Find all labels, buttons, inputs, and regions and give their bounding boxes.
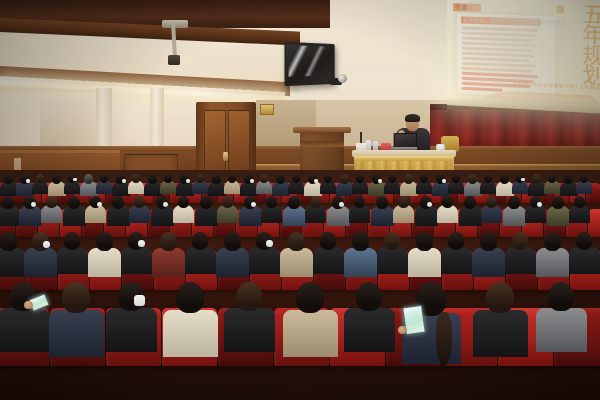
face-mask	[31, 202, 36, 207]
audience-member-head	[324, 174, 332, 183]
audience-member-body	[536, 308, 587, 352]
speaker-hair	[405, 114, 420, 122]
audience-member-head	[46, 196, 57, 208]
lectern-band	[300, 141, 344, 147]
audience-member-body	[283, 310, 338, 357]
table-skirt-band	[354, 156, 454, 161]
audience-member-body	[195, 206, 218, 226]
audience-member-head	[68, 196, 80, 209]
face-mask	[442, 179, 446, 183]
audience-member-body	[106, 308, 157, 352]
audience-member-head	[352, 232, 369, 251]
auditorium-photo: 引言 五年规划：国民经济和社会发展的宏伟蓝图 五年规划 国民经济和社会发展第十四…	[0, 0, 600, 400]
audience-member-head	[196, 174, 204, 183]
face-mask	[122, 179, 126, 183]
audience-member-body	[408, 248, 441, 277]
audience-member-head	[574, 196, 585, 208]
face-mask	[339, 202, 344, 207]
audience-member-head	[552, 196, 564, 209]
audience-member-body	[472, 248, 505, 277]
audience-member-body	[239, 206, 262, 226]
audience-member-head	[576, 232, 592, 250]
audience-member-body	[24, 248, 57, 277]
face-mask	[378, 179, 382, 183]
audience-member-head	[564, 174, 573, 184]
audience-member-head	[134, 196, 145, 208]
hand	[398, 326, 407, 334]
hand	[24, 301, 33, 309]
audience-member-head	[320, 232, 336, 250]
wall-mounted-display	[284, 42, 334, 87]
audience-member-head	[532, 174, 541, 184]
audience-member-head	[486, 282, 514, 313]
audience-member-head	[376, 196, 388, 209]
audience-member-head	[178, 196, 189, 208]
face-mask	[134, 295, 145, 306]
audience-member-head	[512, 232, 528, 250]
audience-member-head	[356, 174, 364, 183]
audience-member-head	[52, 174, 61, 184]
face-mask	[250, 179, 254, 183]
audience-member-head	[132, 174, 140, 183]
audience-member-head	[416, 232, 433, 251]
audience-member-body	[505, 247, 536, 274]
audience-member-body	[283, 206, 306, 226]
face-mask	[521, 178, 525, 181]
audience-member-head	[296, 282, 324, 313]
audience-member-body	[57, 247, 88, 274]
calligraphy-characters: 五年规划	[545, 5, 600, 84]
slide-body-lines	[447, 0, 600, 2]
face-mask	[26, 179, 30, 183]
audience-member-body	[377, 247, 408, 274]
audience-member-head	[200, 196, 212, 209]
audience-member-body	[0, 206, 20, 226]
audience-member-body	[163, 310, 218, 357]
audience-member-head	[222, 196, 233, 208]
audience-member-head	[96, 232, 113, 251]
audience-member-body	[503, 206, 526, 226]
audience-member-body	[547, 206, 570, 226]
face-mask	[427, 202, 432, 207]
audience-member-head	[354, 196, 365, 208]
audience-member-head	[148, 174, 157, 184]
door-handle[interactable]	[223, 152, 228, 161]
face-mask	[73, 178, 77, 181]
audience-member-head	[398, 196, 409, 208]
audience-member-body	[344, 248, 377, 277]
face-mask	[251, 202, 256, 207]
face-mask	[314, 179, 318, 183]
audience-member-body	[151, 206, 174, 226]
audience-member-head	[64, 232, 80, 250]
audience-member-head	[236, 282, 262, 311]
audience-member-head	[192, 232, 208, 250]
audience-member-head	[292, 174, 300, 183]
audience-member-head	[340, 174, 349, 184]
audience-member-head	[84, 174, 93, 184]
audience-member-body	[107, 206, 130, 226]
face-mask	[163, 202, 168, 207]
face-mask	[186, 179, 190, 183]
audience-member-body	[216, 248, 249, 277]
audience-member-head	[468, 174, 477, 184]
audience-member-head	[224, 232, 241, 251]
audience-member-head	[548, 282, 574, 311]
audience-member-head	[442, 196, 453, 208]
audience-member-body	[344, 308, 395, 352]
face-mask	[97, 202, 102, 207]
audience-member-head	[448, 232, 464, 250]
audience-member-body	[473, 310, 528, 357]
audience-member-head	[404, 174, 413, 184]
audience-member-head	[288, 196, 300, 209]
audience-member-head	[100, 174, 108, 183]
door-plaque	[260, 104, 274, 115]
slide-tag-label: 引言	[455, 2, 468, 11]
audience-member-body	[459, 206, 482, 226]
ponytail	[436, 312, 452, 366]
audience-member-head	[452, 174, 460, 183]
audience-member-head	[580, 174, 588, 183]
audience-member-body	[313, 247, 344, 274]
audience-member-head	[164, 174, 172, 183]
audience-member-head	[112, 196, 124, 209]
audience-member-head	[62, 282, 90, 313]
audience-member-head	[548, 174, 556, 183]
audience-member-body	[536, 248, 569, 277]
audience-member-head	[356, 282, 382, 311]
audience-member-head	[486, 196, 497, 208]
audience-member-head	[4, 174, 13, 184]
audience-member-head	[464, 196, 476, 209]
audience-member-body	[441, 247, 472, 274]
audience-member-body	[280, 248, 313, 277]
audience-member-head	[160, 232, 177, 251]
audience-member-head	[484, 174, 492, 183]
audience-member-head	[2, 196, 14, 209]
audience-member-head	[260, 174, 268, 183]
audience-member-body	[415, 206, 438, 226]
audience-member-head	[500, 174, 509, 184]
audience-member-head	[176, 282, 204, 313]
audience-member-body	[121, 247, 152, 274]
audience-member-body	[49, 310, 104, 357]
ceiling-camera	[338, 74, 347, 83]
face-mask	[266, 240, 273, 247]
audience-member-head	[228, 174, 236, 183]
audience-member-head	[508, 196, 520, 209]
audience-member-body	[0, 248, 25, 277]
projector-lamp	[168, 55, 180, 65]
audience-member-body	[88, 248, 121, 277]
face-mask	[537, 202, 542, 207]
audience-member-body	[569, 247, 600, 274]
audience-member-head	[266, 196, 277, 208]
audience-member-body	[63, 206, 86, 226]
audience-member-head	[36, 174, 44, 183]
audience-member-head	[276, 174, 285, 184]
audience-member-head	[480, 232, 497, 251]
audience-member-body	[152, 248, 185, 277]
audience-member-body	[224, 308, 275, 352]
face-mask	[138, 240, 145, 247]
audience-member-body	[185, 247, 216, 274]
audience-member-body	[0, 308, 49, 352]
audience-member-head	[0, 232, 17, 251]
audience-member-body	[19, 206, 42, 226]
audience-member-head	[388, 174, 396, 183]
audience-member-head	[212, 174, 221, 184]
audience-member-head	[420, 174, 428, 183]
audience-area	[0, 170, 600, 400]
audience-member-head	[544, 232, 561, 251]
audience-member-head	[288, 232, 305, 251]
audience-member-head	[384, 232, 400, 250]
audience-member-head	[310, 196, 321, 208]
audience-member-body	[249, 247, 280, 274]
audience-member-body	[371, 206, 394, 226]
face-mask	[43, 241, 50, 248]
audience-member-body	[327, 206, 350, 226]
